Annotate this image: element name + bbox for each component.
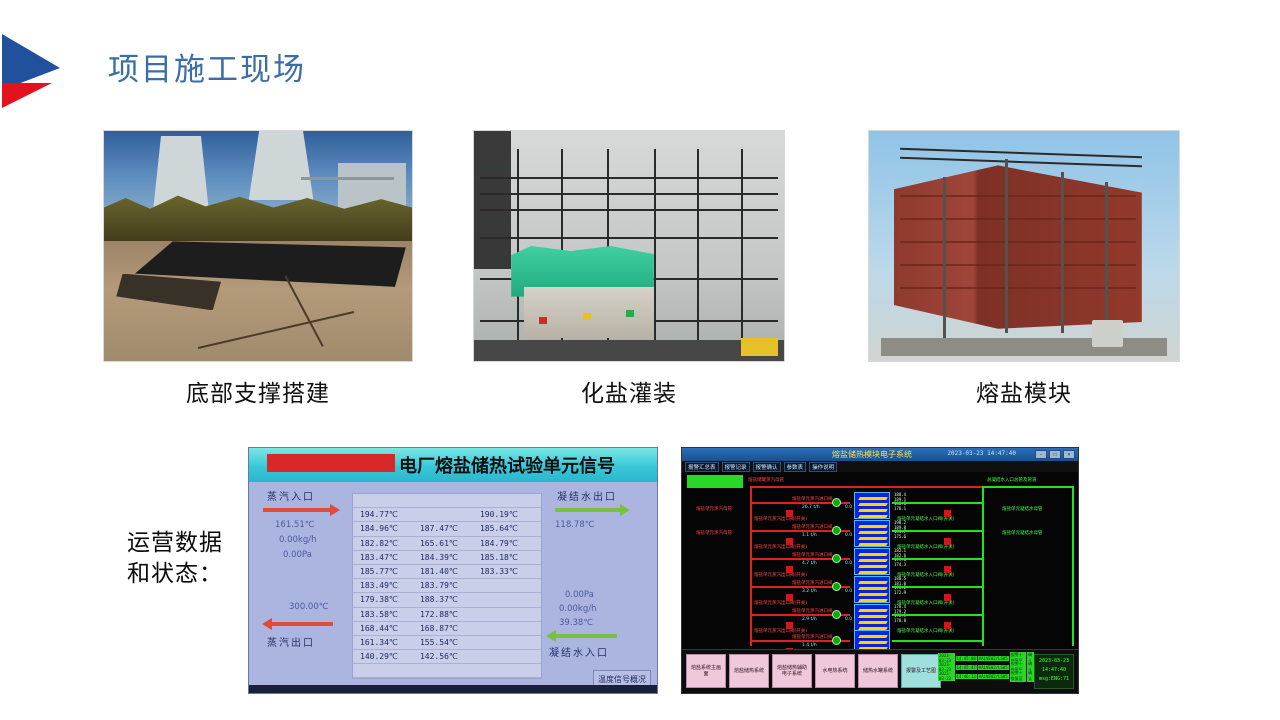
steam-outlet-temp: 300.00℃ (289, 602, 328, 612)
cell: 183.58℃ (357, 610, 417, 619)
alarm-time: 14:45:47 (956, 665, 977, 670)
photo-salt-melting-filling (473, 130, 785, 362)
row-3-flow: 3.2 t/h (802, 589, 817, 594)
scada-menubar[interactable]: 报警汇总表 报警记录 报警确认 参数表 操作说明 (682, 461, 1078, 472)
right-label-0: 总凝结水入口总管及管道 (987, 477, 1037, 483)
caption-salt-melting-filling: 化盐灌装 (473, 374, 785, 408)
alarm-date: 2023-03-23 (938, 671, 955, 681)
operations-data-label-line2: 和状态： (100, 559, 250, 590)
cell: 183.47℃ (357, 553, 417, 562)
hmi-signal-header: 电厂熔盐储热试验单元信号 (249, 448, 657, 482)
brand-logo (0, 28, 68, 108)
hmi-signal-body: 蒸汽入口 161.51℃ 0.00kg/h 0.00Pa 凝结水出口 118.7… (249, 482, 657, 694)
scada-timestamp: 2023-03-23 14:47:40 (947, 450, 1016, 457)
alarm-log[interactable]: 2023-03-23 14:45:08 VALVE02/LS05 报警十恢复区 … (938, 654, 1034, 689)
operations-data-label: 运营数据 和状态： (100, 528, 250, 590)
cell: 182.82℃ (357, 539, 417, 548)
page-title: 项目施工现场 (108, 44, 306, 89)
clock-msg: msg:ENG:71 (1037, 675, 1071, 684)
photo-molten-salt-module-art (869, 131, 1179, 361)
cell: 140.29℃ (357, 652, 417, 661)
bottom-button-water-heat[interactable]: 水电热系统 (815, 654, 855, 688)
logo-triangles-icon (0, 28, 68, 108)
clock-time: 14:47:40 (1037, 666, 1071, 675)
condensate-inlet-label: 凝结水入口 (549, 644, 609, 659)
table-row: 168.44℃ 168.87℃ (353, 622, 541, 636)
menu-item-operation-help[interactable]: 操作说明 (809, 462, 837, 472)
cell: 184.39℃ (417, 553, 477, 562)
scada-clock: 2023-03-23 14:47:40 msg:ENG:71 (1034, 654, 1074, 689)
caption-bottom-support: 底部支撑搭建 (103, 374, 413, 408)
condensate-inlet-flow: 0.00kg/h (559, 604, 597, 614)
cell: 194.77℃ (357, 510, 417, 519)
row-3-drain-label: 熔盐单元蒸汽出口阀(开关) (754, 600, 807, 606)
cell: 172.88℃ (417, 610, 477, 619)
bottom-button-alarm-tab[interactable]: 报警及工艺图 (901, 654, 941, 688)
menu-item-alarm-record[interactable]: 报警记录 (722, 462, 750, 472)
table-row: 184.96℃ 187.47℃ 185.64℃ (353, 522, 541, 536)
hmi-scada-panel[interactable]: 熔盐储热模块电子系统 2023-03-23 14:47:40 - □ × 报警汇… (681, 447, 1079, 694)
row-0-pump2-icon[interactable] (944, 510, 951, 517)
row-2-valve-label: 熔盐单元蒸汽进口阀 (792, 552, 833, 558)
redacted-plant-name (267, 454, 395, 472)
caption-molten-salt-module: 熔盐模块 (868, 374, 1180, 408)
cell: 184.79℃ (477, 539, 537, 548)
cell: 165.61℃ (417, 539, 477, 548)
cell: 168.44℃ (357, 624, 417, 633)
row-2-flow: 4.7 t/h (802, 561, 817, 566)
photo-salt-melting-filling-art (474, 131, 784, 361)
cell: 190.19℃ (477, 510, 537, 519)
row-4-valve-label: 熔盐单元蒸汽进口阀 (792, 608, 833, 614)
menu-item-alarm-summary[interactable]: 报警汇总表 (685, 462, 719, 472)
condensate-outlet-arrow-icon (555, 508, 621, 512)
slide-root: 项目施工现场 底部支撑搭建 (0, 0, 1280, 720)
operations-data-label-line1: 运营数据 (127, 530, 223, 556)
condensate-inlet-temp: 39.38℃ (559, 618, 593, 628)
table-row: 185.77℃ 181.40℃ 183.33℃ (353, 565, 541, 579)
row-0-pump-icon[interactable] (786, 510, 793, 517)
row-2-drain-label: 熔盐单元蒸汽出口阀(开关) (754, 572, 807, 578)
table-row: 140.29℃ 142.56℃ (353, 650, 541, 664)
left-label-1: 熔盐单元蒸汽母管 (696, 506, 732, 512)
photo-bottom-support (103, 130, 413, 362)
steam-inlet-temp: 161.51℃ (275, 520, 314, 530)
cell: 185.18℃ (477, 553, 537, 562)
row-5-valve-label: 熔盐单元蒸汽进口阀 (792, 634, 833, 640)
table-row: 183.49℃ 183.79℃ (353, 579, 541, 593)
row-1-pump-icon[interactable] (786, 538, 793, 545)
t3: 174.3 (894, 562, 906, 567)
row-3-pump2-icon[interactable] (944, 594, 951, 601)
row-1-drain-label: 熔盐单元蒸汽出口阀(开关) (754, 544, 807, 550)
condensate-inlet-arrow-icon (555, 634, 617, 638)
row-1-pump2-icon[interactable] (944, 538, 951, 545)
clock-date: 2023-03-23 (1037, 657, 1071, 666)
row-4-valve-icon[interactable] (832, 610, 841, 619)
scada-bottom-bar: 熔盐系统主画面 熔盐储热系统 熔盐储热辅助电子系统 水电热系统 储热水罐系统 报… (682, 649, 1078, 693)
row-2-valve-icon[interactable] (832, 554, 841, 563)
table-row: 183.47℃ 184.39℃ 185.18℃ (353, 551, 541, 565)
bottom-button-hot-water-tank[interactable]: 储热水罐系统 (858, 654, 898, 688)
scada-title: 熔盐储热模块电子系统 (832, 449, 912, 460)
steam-inlet-pressure: 0.00Pa (283, 550, 312, 560)
row-0-drain-label: 熔盐单元蒸汽出口阀(开关) (754, 516, 807, 522)
t3: 172.9 (894, 590, 906, 595)
alarm-tagname: VALVE02/LS05 (978, 656, 1009, 661)
hmi-signal-footer-strip (249, 685, 657, 693)
steam-outlet-arrow-icon (271, 622, 333, 626)
maximize-button[interactable]: □ (1049, 450, 1061, 459)
left-label-2: 熔盐单元蒸汽母管 (696, 530, 732, 536)
row-4-pump2-icon[interactable] (944, 622, 951, 629)
row-1-valve-icon[interactable] (832, 526, 841, 535)
condensate-outlet-temp: 118.78℃ (555, 520, 594, 530)
row-0-valve-label: 熔盐单元蒸汽进口阀 (792, 496, 833, 502)
table-row: 179.38℃ 188.37℃ (353, 593, 541, 607)
cell: 184.96℃ (357, 524, 417, 533)
cell: 183.49℃ (357, 581, 417, 590)
cell: 185.77℃ (357, 567, 417, 576)
cell: 168.87℃ (417, 624, 477, 633)
steam-outlet-label: 蒸汽出口 (267, 634, 315, 649)
minimize-button[interactable]: - (1035, 450, 1047, 459)
row-3-valve-icon[interactable] (832, 582, 841, 591)
row-3-valve-label: 熔盐单元蒸汽进口阀 (792, 580, 833, 586)
menu-item-params[interactable]: 参数表 (784, 462, 807, 472)
cell: 161.34℃ (357, 638, 417, 647)
row-1-flow: 1.1 t/h (802, 533, 817, 538)
row-3-pump-icon[interactable] (786, 594, 793, 601)
row-0-heat-exchanger (854, 492, 890, 519)
row-0-valve-icon[interactable] (832, 498, 841, 507)
right-label-2: 熔盐单元凝结水母管 (1002, 530, 1043, 536)
table-row (353, 494, 541, 508)
right-label-1: 熔盐单元凝结水母管 (1002, 506, 1043, 512)
alarm-tagname: VALVE02/LS05 (978, 674, 1009, 679)
alarm-state: 报警十恢复区 (1010, 670, 1026, 682)
row-3-heat-exchanger (854, 576, 890, 603)
table-row: 194.77℃ 190.19℃ (353, 508, 541, 522)
cell: 179.38℃ (357, 595, 417, 604)
row-2-pump2-icon[interactable] (944, 566, 951, 573)
close-button[interactable]: × (1063, 450, 1075, 459)
cell: 183.33℃ (477, 567, 537, 576)
cell: 155.54℃ (417, 638, 477, 647)
steam-inlet-label: 蒸汽入口 (267, 488, 315, 503)
menu-item-alarm-ack[interactable]: 报警确认 (753, 462, 781, 472)
photo-molten-salt-module (868, 130, 1180, 362)
steam-inlet-arrow-icon (263, 508, 331, 512)
cell: 183.79℃ (417, 581, 477, 590)
condensate-inlet-pressure: 0.00Pa (565, 590, 594, 600)
row-4-heat-exchanger (854, 604, 890, 631)
bottom-button-aux-electronics[interactable]: 熔盐储热辅助电子系统 (772, 654, 812, 688)
alarm-time: 14:45:08 (956, 656, 977, 661)
table-row: 161.34℃ 155.54℃ (353, 636, 541, 650)
alarm-row: 2023-03-23 14:46:13 VALVE02/LS05 报警十恢复区 … (938, 672, 1034, 680)
alarm-tagname: VALVE02/LS05 (978, 665, 1009, 670)
row-4-pump-icon[interactable] (786, 622, 793, 629)
alarm-time: 14:46:13 (956, 674, 977, 679)
t3: 170.8 (894, 618, 906, 623)
row-5-flow: 1.4 t/h (802, 643, 817, 648)
cell: 181.40℃ (417, 567, 477, 576)
bottom-button-main-screen[interactable]: 熔盐系统主画面 (686, 654, 726, 688)
row-0-flow: 26.7 t/h (802, 505, 820, 510)
t3: 175.6 (894, 534, 906, 539)
scada-window-buttons[interactable]: - □ × (1035, 450, 1075, 459)
t3: 178.1 (894, 506, 906, 511)
table-row (353, 664, 541, 678)
cell: 185.64℃ (477, 524, 537, 533)
temperature-table[interactable]: 194.77℃ 190.19℃ 184.96℃ 187.47℃ 185.64℃ … (352, 493, 542, 679)
steam-inlet-flow: 0.00kg/h (279, 535, 317, 545)
row-1-valve-label: 熔盐单元蒸汽进口阀 (792, 524, 833, 530)
hmi-signal-title: 电厂熔盐储热试验单元信号 (399, 452, 615, 478)
alarm-ack: 确认 (1027, 670, 1034, 682)
photo-bottom-support-art (104, 131, 412, 361)
scada-bottom-buttons[interactable]: 熔盐系统主画面 熔盐储热系统 熔盐储热辅助电子系统 水电热系统 储热水罐系统 报… (686, 654, 941, 688)
scada-pid-diagram: 熔盐储罐蒸汽母管 熔盐单元蒸汽母管 熔盐单元蒸汽母管 总凝结水入口总管及管道 熔… (682, 472, 1078, 652)
row-4-flow: 2.9 t/h (802, 617, 817, 622)
row-2-heat-exchanger (854, 548, 890, 575)
row-1-heat-exchanger (854, 520, 890, 547)
cell: 188.37℃ (417, 595, 477, 604)
row-5-valve-icon[interactable] (832, 636, 841, 645)
scada-titlebar: 熔盐储热模块电子系统 2023-03-23 14:47:40 - □ × (682, 448, 1078, 461)
table-row: 183.58℃ 172.88℃ (353, 608, 541, 622)
table-row: 182.82℃ 165.61℃ 184.79℃ (353, 537, 541, 551)
cell: 187.47℃ (417, 524, 477, 533)
row-2-pump-icon[interactable] (786, 566, 793, 573)
bottom-button-storage-system[interactable]: 熔盐储热系统 (729, 654, 769, 688)
cell: 142.56℃ (417, 652, 477, 661)
condensate-outlet-label: 凝结水出口 (557, 488, 617, 503)
left-label-0: 熔盐储罐蒸汽母管 (748, 477, 784, 483)
hmi-signal-panel[interactable]: 电厂熔盐储热试验单元信号 蒸汽入口 161.51℃ 0.00kg/h 0.00P… (248, 447, 658, 694)
